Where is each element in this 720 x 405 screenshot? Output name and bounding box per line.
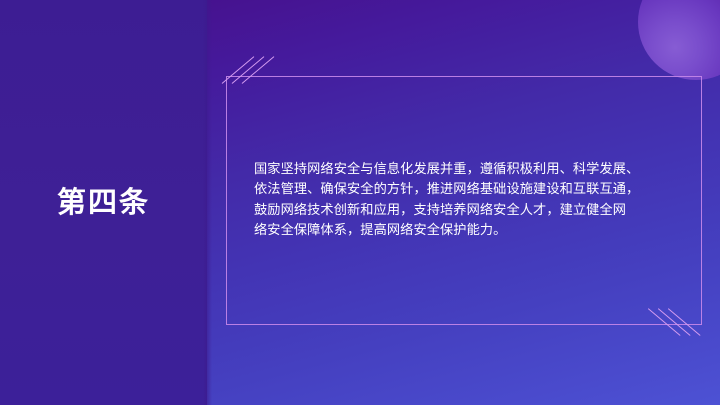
presentation-slide: 第四条 国家坚持网络安全与信息化发展并重，遵循积极利用、科学发展、 依法管理、确… — [0, 0, 720, 405]
body-line: 国家坚持网络安全与信息化发展并重，遵循积极利用、科学发展、 — [254, 160, 674, 180]
body-line: 鼓励网络技术创新和应用，支持培养网络安全人才，建立健全网 — [254, 201, 674, 221]
slide-title: 第四条 — [0, 186, 207, 219]
body-line: 络安全保障体系，提高网络安全保护能力。 — [254, 221, 674, 241]
slide-body-text: 国家坚持网络安全与信息化发展并重，遵循积极利用、科学发展、 依法管理、确保安全的… — [254, 160, 674, 242]
body-line: 依法管理、确保安全的方针，推进网络基础设施建设和互联互通， — [254, 180, 674, 200]
